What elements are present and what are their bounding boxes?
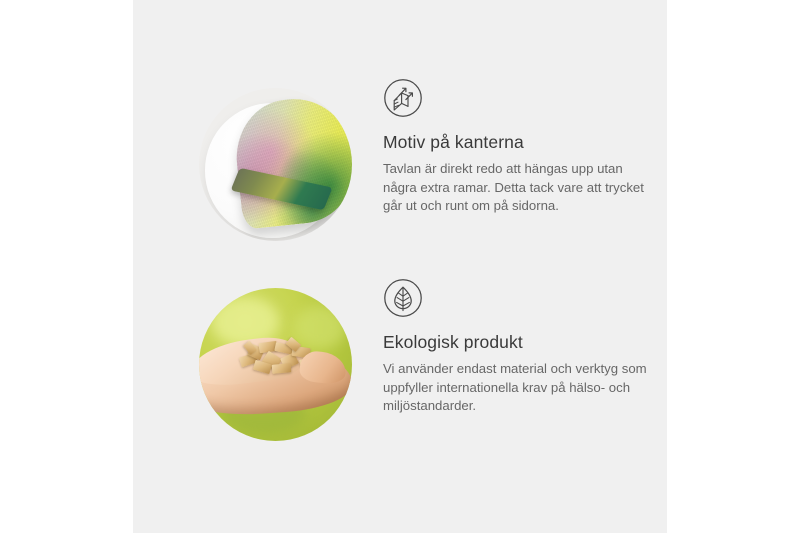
canvas-photo-scene: [199, 88, 352, 241]
feature-row-edges: Motiv på kanterna Tavlan är direkt redo …: [133, 78, 667, 250]
feature-title: Ekologisk produkt: [383, 332, 661, 353]
content-panel: Motiv på kanterna Tavlan är direkt redo …: [133, 0, 667, 533]
feature-text-eco: Ekologisk produkt Vi använder endast mat…: [383, 278, 661, 416]
canvas-edge-print-icon: [383, 78, 423, 118]
canvas-corner-photo: [199, 88, 352, 241]
feature-description: Vi använder endast material och verktyg …: [383, 360, 651, 416]
product-feature-banner: Motiv på kanterna Tavlan är direkt redo …: [0, 0, 800, 533]
feature-description: Tavlan är direkt redo att hängas upp uta…: [383, 160, 651, 216]
eco-photo-scene: [199, 288, 352, 441]
feature-row-eco: Ekologisk produkt Vi använder endast mat…: [133, 278, 667, 450]
leaf-icon: [383, 278, 423, 318]
wood-chips-in-hands-photo: [199, 288, 352, 441]
wood-chip: [271, 363, 291, 373]
feature-text-edges: Motiv på kanterna Tavlan är direkt redo …: [383, 78, 661, 216]
feature-title: Motiv på kanterna: [383, 132, 661, 153]
